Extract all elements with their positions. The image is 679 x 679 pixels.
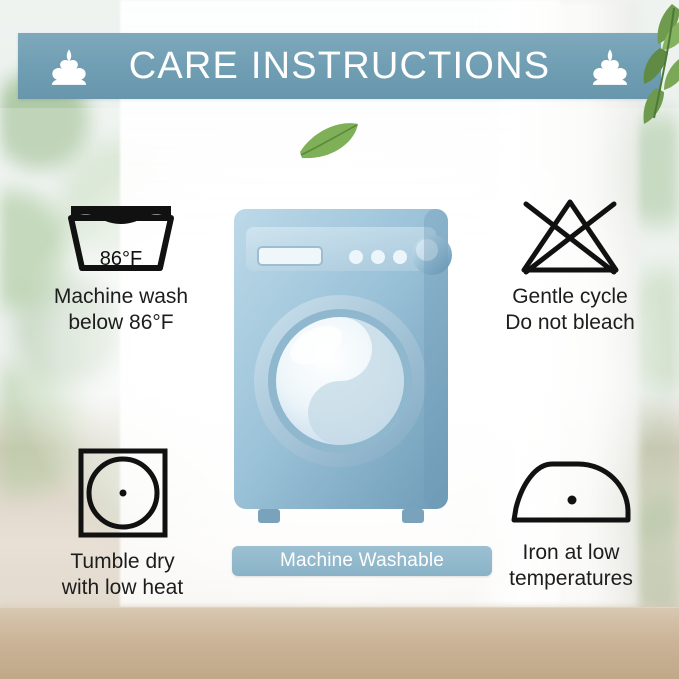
bleach-triangle-crossed-icon <box>510 196 630 276</box>
symbol-caption-no-bleach: Gentle cycle Do not bleach <box>505 284 635 336</box>
fleur-de-lis-left-icon <box>40 46 98 86</box>
symbol-tumble-dry: Tumble dry with low heat <box>30 445 215 601</box>
badge-label: Machine Washable <box>280 550 444 572</box>
symbol-caption-tumble-dry: Tumble dry with low heat <box>62 549 183 601</box>
fleur-de-lis-right-icon <box>581 46 639 86</box>
machine-washable-badge: Machine Washable <box>232 546 492 576</box>
tumble-dry-square-circle-icon <box>75 445 171 541</box>
symbol-no-bleach: Gentle cycle Do not bleach <box>475 196 665 336</box>
page-title: CARE INSTRUCTIONS <box>129 45 551 88</box>
iron-icon <box>506 450 636 532</box>
wash-tub-icon: 86°F <box>61 196 181 276</box>
symbol-machine-wash: 86°F Machine wash below 86°F <box>26 196 216 336</box>
header-banner: CARE INSTRUCTIONS <box>18 33 661 99</box>
symbol-caption-machine-wash: Machine wash below 86°F <box>54 284 188 336</box>
symbol-caption-iron: Iron at low temperatures <box>509 540 633 592</box>
washing-machine-illustration <box>228 205 454 535</box>
wash-temperature-label: 86°F <box>61 248 181 271</box>
symbol-iron: Iron at low temperatures <box>481 450 661 592</box>
care-instructions-graphic: CARE INSTRUCTIONS 86°F <box>0 0 679 679</box>
background-table <box>0 607 679 679</box>
